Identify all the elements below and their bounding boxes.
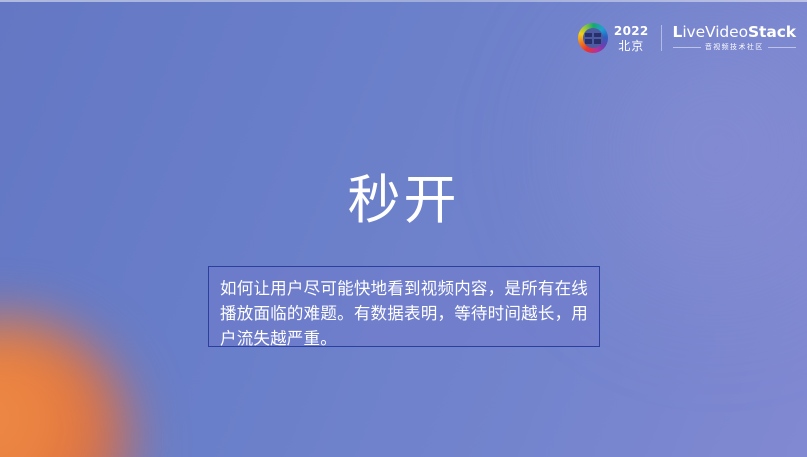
slide-title: 秒开 [0, 174, 807, 227]
brand-name-mid: o [739, 23, 748, 41]
brand-name: LiveVideoStack [673, 25, 796, 41]
brand-logo: LiveVideoStack 音视频技术社区 [673, 25, 796, 52]
brand-subtitle: 音视频技术社区 [701, 44, 768, 51]
body-text-box: 如何让用户尽可能快地看到视频内容，是所有在线播放面临的难题。有数据表明，等待时间… [208, 266, 600, 347]
body-text: 如何让用户尽可能快地看到视频内容，是所有在线播放面临的难题。有数据表明，等待时间… [209, 267, 599, 351]
brand-name-lead: L [673, 23, 683, 41]
event-year: 2022 [614, 25, 649, 37]
logo-divider [661, 25, 662, 51]
header-logo-lockup: 2022 北京 LiveVideoStack 音视频技术社区 [578, 20, 796, 56]
brand-name-light: iveVide [682, 23, 738, 41]
presentation-slide: 2022 北京 LiveVideoStack 音视频技术社区 秒开 如何让用户尽… [0, 0, 807, 457]
ring-inner-glyph [585, 33, 601, 44]
event-year-city: 2022 北京 [614, 25, 649, 52]
rainbow-ring-icon [578, 23, 608, 53]
event-logo: 2022 北京 [578, 23, 649, 53]
event-city: 北京 [618, 40, 644, 52]
brand-subtitle-rule-right [768, 47, 796, 48]
orange-gradient-blob [0, 318, 132, 457]
brand-subtitle-row: 音视频技术社区 [673, 44, 796, 51]
top-edge-highlight [0, 0, 807, 2]
brand-name-bold: Stack [748, 23, 796, 41]
brand-subtitle-rule-left [673, 47, 701, 48]
